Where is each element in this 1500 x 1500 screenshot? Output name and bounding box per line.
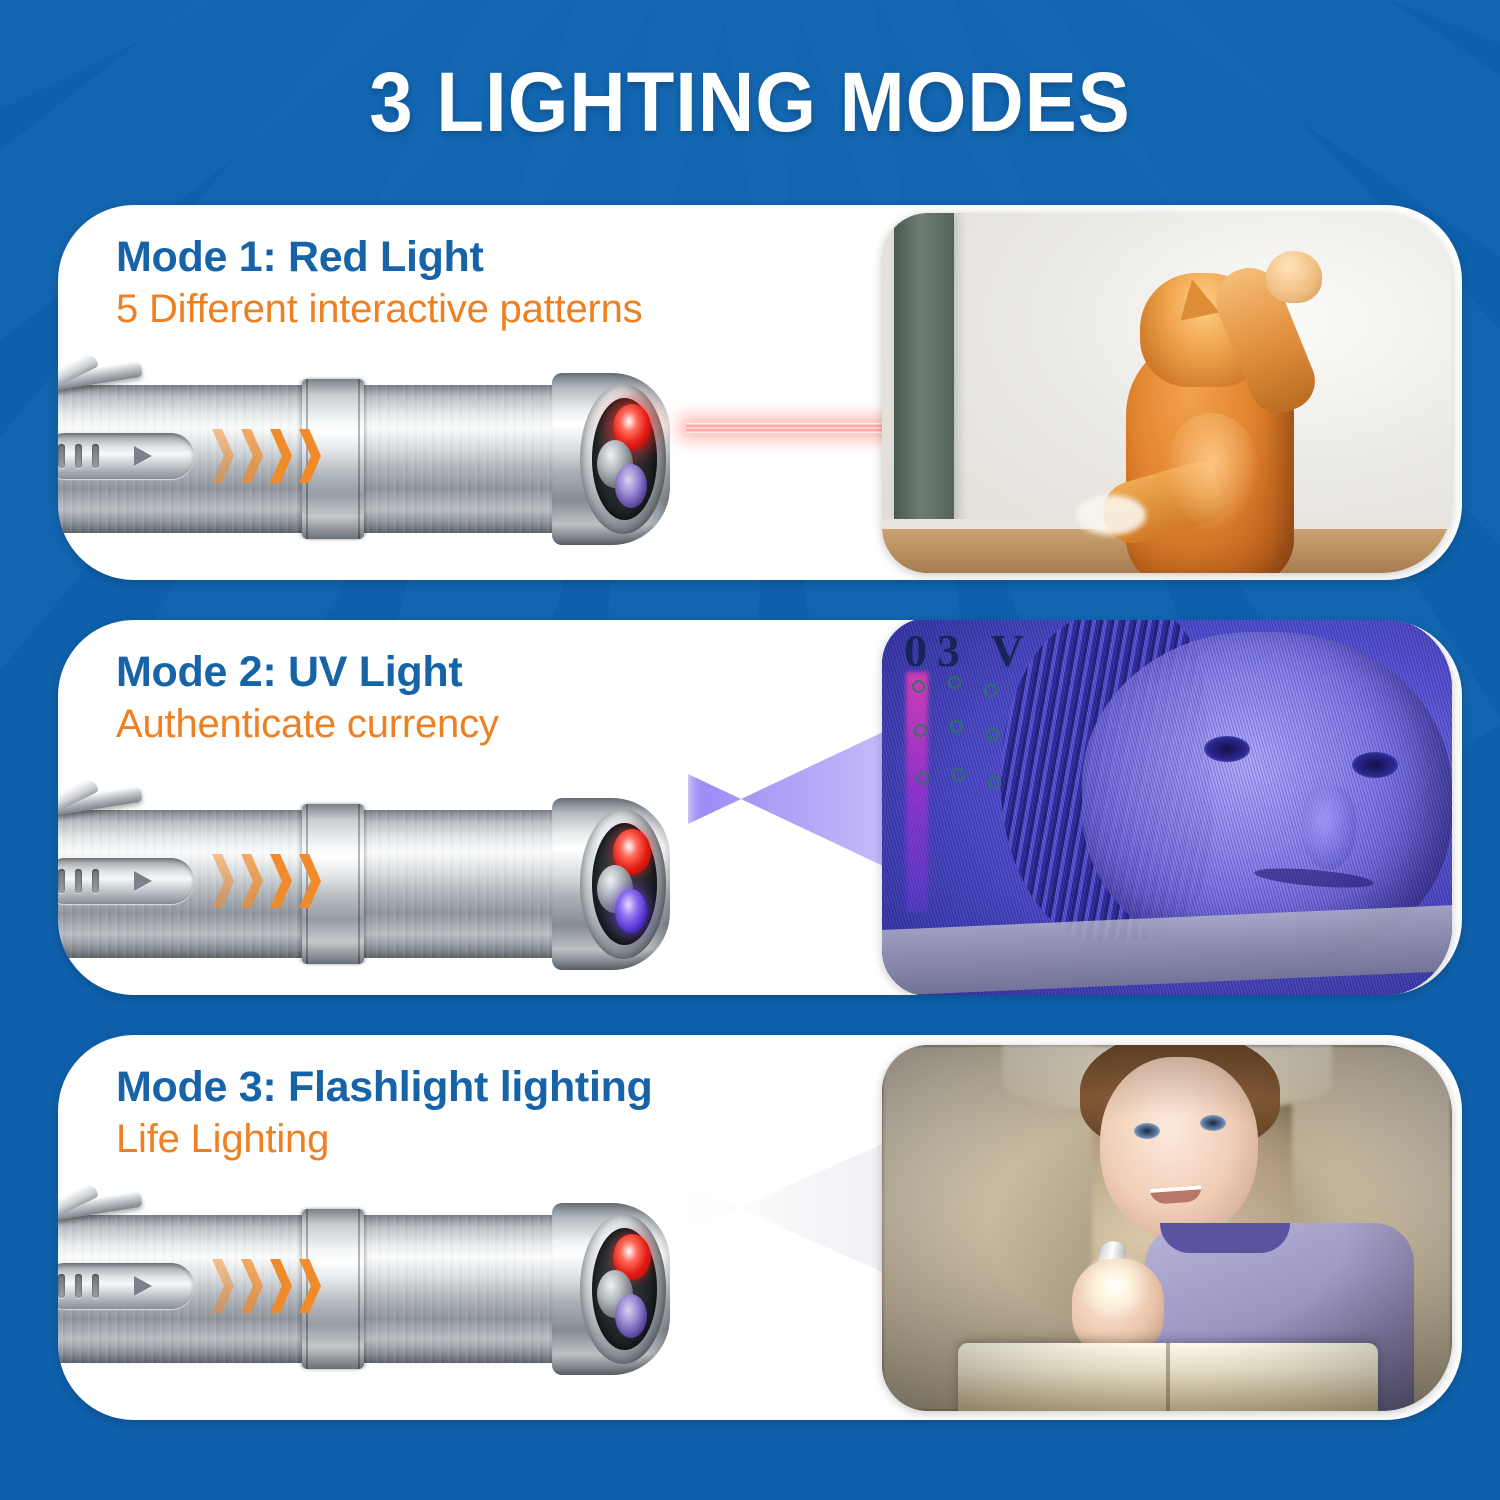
- mode-3-text-block: Mode 3: Flashlight lighting Life Lightin…: [116, 1065, 653, 1162]
- flashlight-bezel: [580, 809, 666, 959]
- pocket-clip-icon: [58, 1189, 144, 1229]
- mode-2-heading: Mode 2: UV Light: [116, 650, 499, 696]
- power-switch-button[interactable]: [58, 858, 194, 904]
- mode-3-subheading: Life Lighting: [116, 1116, 653, 1162]
- cat-illustration: [1104, 243, 1334, 573]
- chevron-arrows-icon: [212, 429, 321, 483]
- lens-housing: [592, 823, 657, 945]
- play-triangle-icon: [134, 1276, 152, 1296]
- flashlight-head: [552, 1203, 670, 1375]
- play-triangle-icon: [134, 871, 152, 891]
- bill-serial-text: 03 V: [904, 624, 1034, 677]
- switch-bars-icon: [58, 869, 99, 893]
- mode-1-text-block: Mode 1: Red Light 5 Different interactiv…: [116, 235, 642, 332]
- mode-1-subheading: 5 Different interactive patterns: [116, 286, 642, 332]
- chevron-arrows-icon: [212, 854, 321, 908]
- play-triangle-icon: [134, 446, 152, 466]
- switch-bars-icon: [58, 1274, 99, 1298]
- flashlight-head: [552, 798, 670, 970]
- switch-bars-icon: [58, 444, 99, 468]
- uv-led-lens-icon: [615, 464, 647, 508]
- page-title: 3 LIGHTING MODES: [53, 60, 1448, 144]
- pocket-clip-icon: [58, 784, 144, 824]
- chevron-arrows-icon: [212, 1259, 321, 1313]
- mode-1-photo-cat: [882, 213, 1452, 573]
- mode-card-2: Mode 2: UV Light Authenticate currency: [58, 620, 1462, 995]
- mode-card-1: Mode 1: Red Light 5 Different interactiv…: [58, 205, 1462, 580]
- mode-card-3: Mode 3: Flashlight lighting Life Lightin…: [58, 1035, 1462, 1420]
- mode-3-heading: Mode 3: Flashlight lighting: [116, 1065, 653, 1111]
- infographic-root: 3 LIGHTING MODES Mode 1: Red Light 5 Dif…: [0, 0, 1500, 1500]
- lens-housing: [592, 398, 657, 520]
- pocket-clip-icon: [58, 359, 144, 399]
- mode-2-text-block: Mode 2: UV Light Authenticate currency: [116, 650, 499, 747]
- flashlight-bezel: [580, 384, 666, 534]
- flashlight-head: [552, 373, 670, 545]
- uv-led-lens-icon: [615, 1294, 647, 1338]
- mode-2-subheading: Authenticate currency: [116, 701, 499, 747]
- mode-3-photo-girl: [882, 1045, 1452, 1411]
- uv-led-lens-icon: [615, 889, 647, 933]
- mode-1-heading: Mode 1: Red Light: [116, 235, 642, 281]
- mode-2-photo-currency: 03 V: [882, 620, 1452, 995]
- lens-housing: [592, 1228, 657, 1350]
- flashlight-bezel: [580, 1214, 666, 1364]
- uv-security-dots: [912, 676, 1022, 856]
- power-switch-button[interactable]: [58, 433, 194, 479]
- power-switch-button[interactable]: [58, 1263, 194, 1309]
